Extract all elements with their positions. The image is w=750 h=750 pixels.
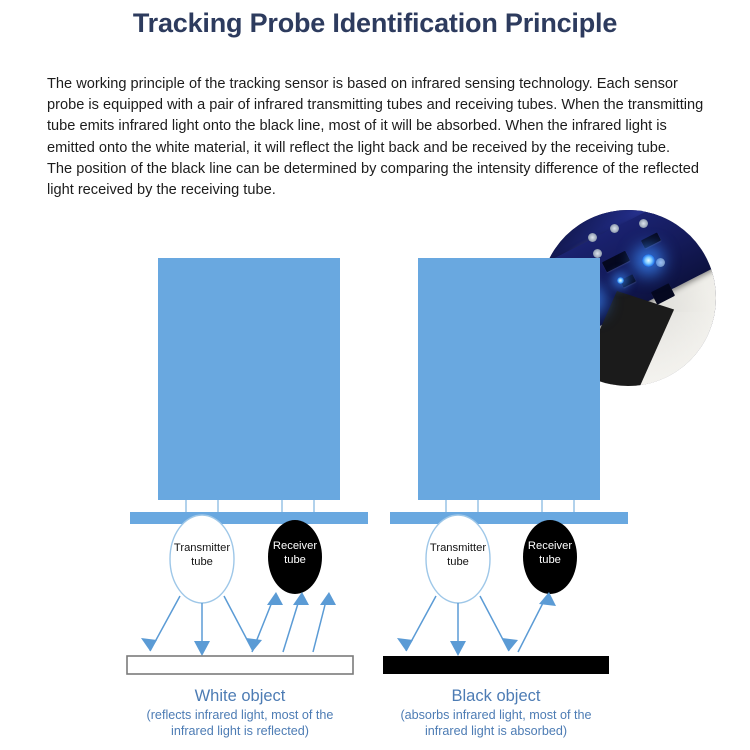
- body-text-block: The working principle of the tracking se…: [47, 74, 707, 201]
- reflected-ray-heads-right: [539, 592, 556, 606]
- receiver-tube-label-right: Receiver tube: [515, 540, 585, 567]
- diagram-white-object: [127, 258, 368, 674]
- reflected-rays-right: [518, 597, 546, 652]
- transmitter-label-line1: Transmitter: [174, 542, 230, 554]
- photo-solder-2: [588, 233, 597, 242]
- black-object-caption: Black object (absorbs infrared light, mo…: [361, 686, 631, 739]
- reflected-ray-heads-left: [267, 592, 336, 605]
- reflected-rays-left: [252, 597, 327, 652]
- transmitter-label-line2: tube: [191, 556, 213, 568]
- page-root: Tracking Probe Identification Principle …: [0, 0, 750, 750]
- emitted-rays-left: [150, 596, 253, 651]
- photo-solder-5: [593, 249, 602, 258]
- page-title: Tracking Probe Identification Principle: [0, 8, 750, 39]
- black-object-name: Black object: [361, 686, 631, 707]
- paragraph-1: The working principle of the tracking se…: [47, 74, 707, 159]
- sensor-body-left: [158, 258, 340, 500]
- receiver-tube-label-left: Receiver tube: [260, 540, 330, 567]
- receiver-label-line2: tube: [539, 554, 561, 566]
- white-object-bar: [127, 656, 353, 674]
- white-object-name: White object: [105, 686, 375, 707]
- sensor-board-right: [390, 512, 628, 524]
- sensor-photo-circle: [540, 210, 716, 386]
- emitted-rays-right: [406, 596, 509, 651]
- photo-solder-7: [656, 258, 665, 267]
- photo-solder-1: [561, 302, 570, 311]
- white-object-note-2: infrared light is reflected): [105, 723, 375, 739]
- photo-solder-4: [639, 219, 648, 228]
- paragraph-2: The position of the black line can be de…: [47, 159, 707, 201]
- black-object-note-2: infrared light is absorbed): [361, 723, 631, 739]
- photo-solder-6: [570, 319, 579, 328]
- black-object-note-1: (absorbs infrared light, most of the: [361, 707, 631, 723]
- emitted-ray-heads-right: [397, 638, 518, 656]
- receiver-label-line1: Receiver: [528, 540, 572, 552]
- white-object-note-1: (reflects infrared light, most of the: [105, 707, 375, 723]
- emitted-ray-heads-left: [141, 638, 262, 656]
- transmitter-label-line2: tube: [447, 556, 469, 568]
- photo-led-2: [642, 254, 655, 267]
- black-object-bar: [383, 656, 609, 674]
- receiver-label-line2: tube: [284, 554, 306, 566]
- transmitter-tube-label-right: Transmitter tube: [423, 542, 493, 569]
- sensor-board-left: [130, 512, 368, 524]
- white-object-caption: White object (reflects infrared light, m…: [105, 686, 375, 739]
- transmitter-label-line1: Transmitter: [430, 542, 486, 554]
- sensor-photo-image: [540, 210, 716, 386]
- transmitter-tube-label-left: Transmitter tube: [167, 542, 237, 569]
- receiver-label-line1: Receiver: [273, 540, 317, 552]
